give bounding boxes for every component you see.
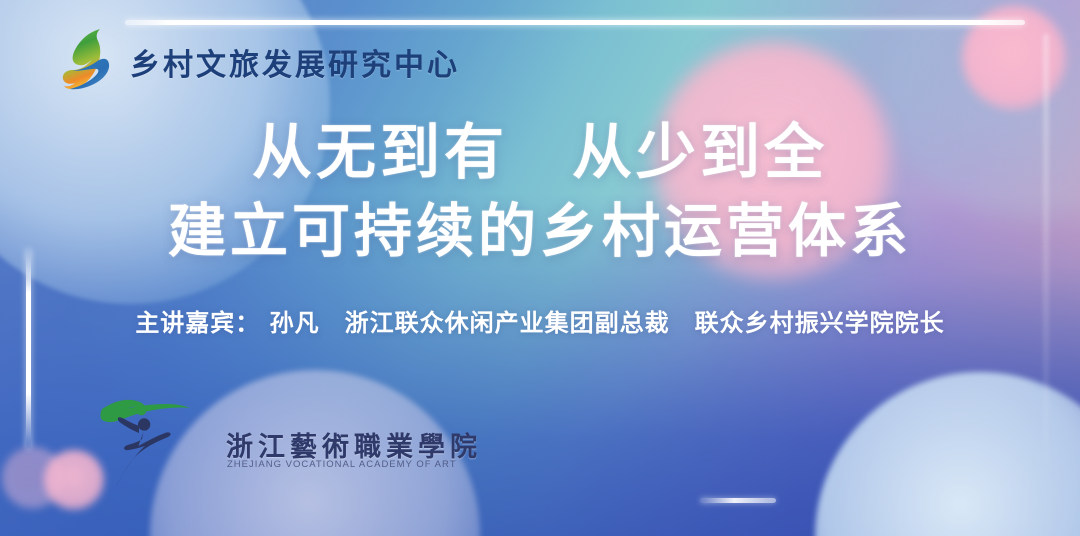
school-name-en: ZHEJIANG VOCATIONAL ACADEMY OF ART bbox=[227, 459, 457, 470]
speaker-line: 主讲嘉宾： 孙凡 浙江联众休闲产业集团副总裁 联众乡村振兴学院院长 bbox=[0, 303, 1080, 338]
title-line-2: 建立可持续的乡村运营体系 bbox=[0, 195, 1080, 268]
title-block: 从无到有 从少到全 建立可持续的乡村运营体系 bbox=[0, 118, 1080, 267]
decorative-circle-purple-small bbox=[2, 447, 64, 509]
decorative-line-bottom-right bbox=[700, 498, 776, 503]
decorative-line-left bbox=[26, 249, 31, 449]
decorative-circle-pink-mini bbox=[44, 450, 104, 510]
title-line-1: 从无到有 从少到全 bbox=[0, 118, 1080, 189]
decorative-circle-pink-small bbox=[962, 6, 1066, 110]
school-logo: 浙江藝術職業學院 ZHEJIANG VOCATIONAL ACADEMY OF … bbox=[96, 383, 366, 503]
dancer-ribbon-icon bbox=[96, 383, 208, 491]
organization-name: 乡村文旅发展研究中心 bbox=[130, 40, 460, 84]
ribbon-swirl-icon bbox=[56, 25, 120, 99]
decorative-circle-bottom-right bbox=[815, 372, 1080, 536]
poster-canvas: 乡村文旅发展研究中心 从无到有 从少到全 建立可持续的乡村运营体系 主讲嘉宾： … bbox=[0, 0, 1080, 536]
organization-logo: 乡村文旅发展研究中心 bbox=[56, 25, 460, 99]
